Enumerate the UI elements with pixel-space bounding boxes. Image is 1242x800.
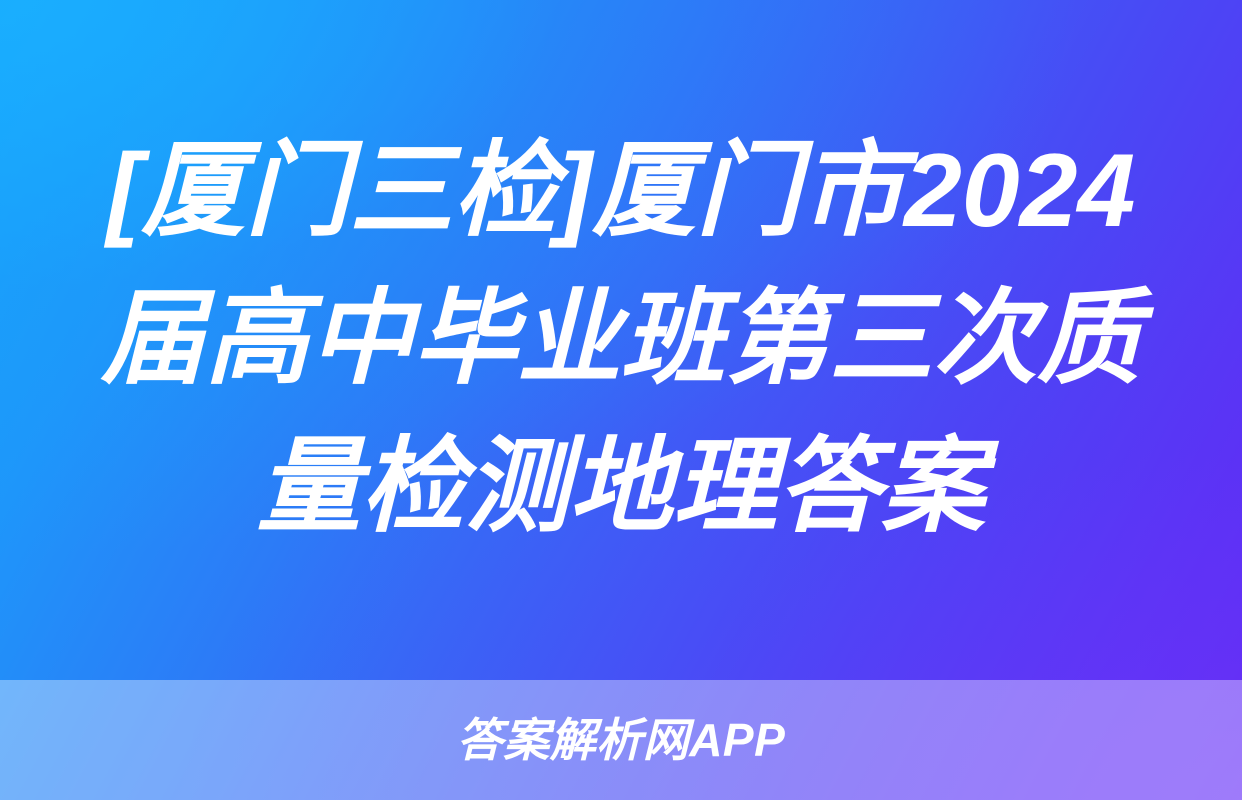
brand-watermark: 答案解析网APP xyxy=(457,717,786,763)
footer-watermark-container: 答案解析网APP xyxy=(0,680,1242,800)
title-card-canvas: [厦门三检]厦门市2024届高中毕业班第三次质量检测地理答案 答案解析网APP xyxy=(0,0,1242,800)
page-title: [厦门三检]厦门市2024届高中毕业班第三次质量检测地理答案 xyxy=(58,118,1184,561)
hero-title-container: [厦门三检]厦门市2024届高中毕业班第三次质量检测地理答案 xyxy=(0,0,1242,680)
